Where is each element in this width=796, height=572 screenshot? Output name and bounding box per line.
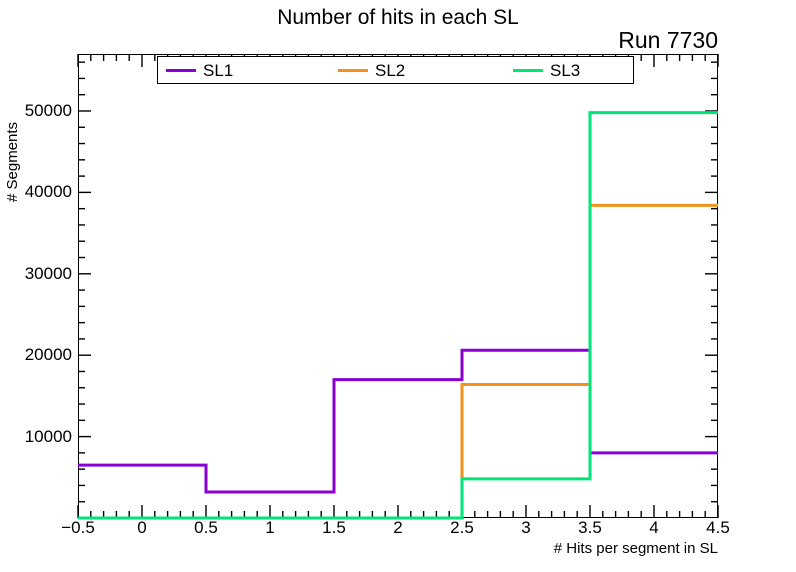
x-axis-tick-label: 4 xyxy=(649,518,658,538)
y-axis-tick-label: 20000 xyxy=(25,346,72,364)
x-axis-tick-label: 0 xyxy=(137,518,146,538)
legend-label: SL2 xyxy=(375,61,405,80)
x-axis-tick-label: 1.5 xyxy=(322,518,346,538)
histogram-series-sl3 xyxy=(78,113,718,518)
x-axis-tick-label: 3.5 xyxy=(578,518,602,538)
y-axis-tick-label: 30000 xyxy=(25,265,72,283)
plot-frame xyxy=(0,0,796,572)
x-axis-tick-label: 1 xyxy=(265,518,274,538)
x-axis-tick-label: 2 xyxy=(393,518,402,538)
x-axis-tick-label: −0.5 xyxy=(61,518,95,538)
histogram-series-sl1 xyxy=(78,350,718,492)
x-axis-tick-label: 0.5 xyxy=(194,518,218,538)
legend-label: SL3 xyxy=(550,61,580,80)
legend-label: SL1 xyxy=(203,61,233,80)
chart-canvas: Number of hits in each SL Run 7730 # Seg… xyxy=(0,0,796,572)
y-axis-tick-label: 50000 xyxy=(25,102,72,120)
legend-entry-sl1[interactable]: SL1 xyxy=(166,57,233,83)
histogram-series-sl2 xyxy=(78,205,718,518)
legend-swatch-sl1 xyxy=(166,69,196,72)
legend-swatch-sl2 xyxy=(338,69,368,72)
x-axis-tick-label: 4.5 xyxy=(706,518,730,538)
y-axis-tick-label: 10000 xyxy=(25,428,72,446)
legend-swatch-sl3 xyxy=(513,69,543,72)
x-axis-tick-label: 2.5 xyxy=(450,518,474,538)
axis-frame xyxy=(79,55,718,518)
legend: SL1SL2SL3 xyxy=(157,56,634,84)
legend-entry-sl2[interactable]: SL2 xyxy=(338,57,405,83)
y-axis-tick-label: 40000 xyxy=(25,183,72,201)
x-axis-tick-label: 3 xyxy=(521,518,530,538)
legend-entry-sl3[interactable]: SL3 xyxy=(513,57,580,83)
